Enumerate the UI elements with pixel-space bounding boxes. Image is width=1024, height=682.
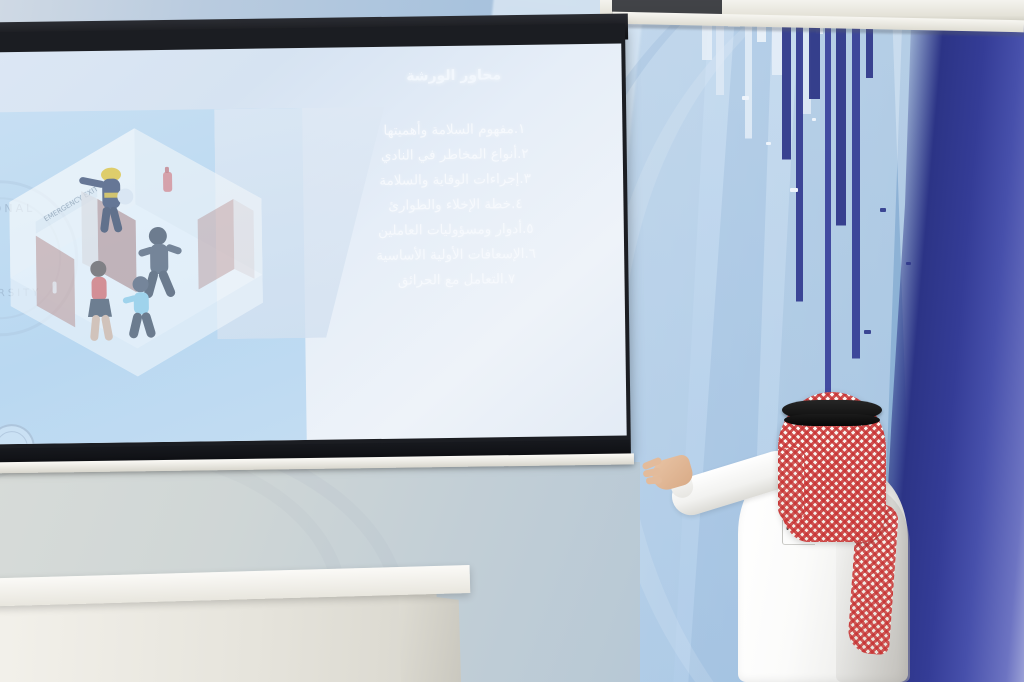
lectern-side — [398, 592, 461, 682]
paint-speck — [742, 96, 749, 100]
agal-cord-lower — [784, 414, 880, 426]
paint-speck — [864, 330, 871, 334]
paint-speck — [812, 118, 816, 121]
presentation-room-scene: NATIONAL UNIVERSITY EMERGENCY EXIT — [0, 0, 1024, 682]
slide-topic-item: ٧.التعامل مع الحرائق — [306, 266, 606, 295]
paint-speck — [880, 208, 886, 212]
ghutra-front-fold — [778, 448, 804, 522]
paint-speck — [766, 142, 771, 145]
slide-title: محاور الورشة — [304, 66, 604, 86]
paint-speck — [906, 262, 911, 265]
presenter-person — [686, 392, 986, 682]
isometric-emergency-evacuation-illustration: EMERGENCY EXIT — [0, 106, 272, 386]
projected-slide: NATIONAL UNIVERSITY EMERGENCY EXIT — [0, 44, 627, 445]
paint-speck — [790, 188, 798, 192]
slide-topic-list: ١.مفهوم السلامة وأهميتها ٢.أنواع المخاطر… — [304, 116, 606, 295]
slide-text-block: محاور الورشة ١.مفهوم السلامة وأهميتها ٢.… — [304, 66, 607, 295]
finger — [646, 476, 662, 484]
